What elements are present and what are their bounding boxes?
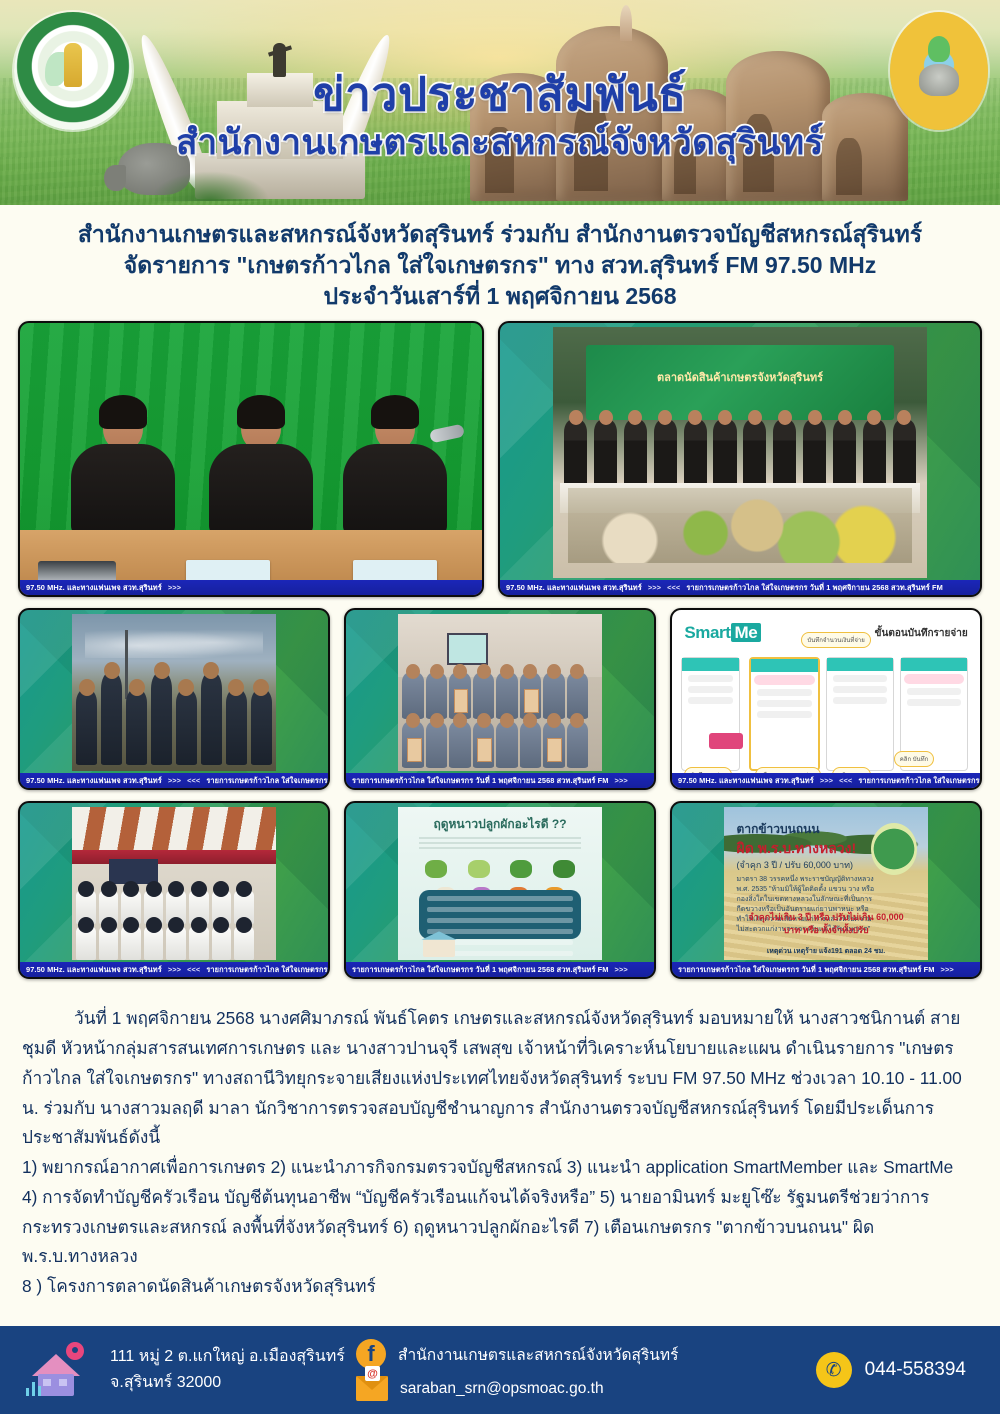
photo-seminar-tent[interactable]: 97.50 MHz. และทางแฟนเพจ สวท.สุรินทร์ >>>… bbox=[18, 801, 330, 979]
road-warning-infographic: ตากข้าวบนถนน ผิด พ.ร.บ.ทางหลวง! (จำคุก 3… bbox=[724, 807, 927, 960]
ministry-of-agriculture-seal bbox=[14, 12, 132, 130]
ticker-arrow-left: <<< bbox=[181, 965, 200, 974]
ticker-arrow-right: >>> bbox=[162, 965, 181, 974]
ticker-left-text: 97.50 MHz. และทางแฟนเพจ สวท.สุรินทร์ bbox=[500, 582, 642, 594]
banner-subheadline: สำนักงานเกษตรและสหกรณ์จังหวัดสุรินทร์ bbox=[0, 124, 1000, 162]
ceremony-scene bbox=[553, 327, 927, 578]
body-paragraph-1: วันที่ 1 พฤศจิกายน 2568 นางศศิมาภรณ์ พัน… bbox=[22, 1004, 978, 1153]
photo-vegetable-infographic[interactable]: ฤดูหนาวปลูกผักอะไรดี ?? รายการเกษตรก้าวไ… bbox=[344, 801, 656, 979]
facebook-row[interactable]: f สำนักงานเกษตรและสหกรณ์จังหวัดสุรินทร์ bbox=[356, 1339, 678, 1369]
title-line-2: จัดรายการ "เกษตรก้าวไกล ใส่ใจเกษตรกร" ทา… bbox=[26, 250, 974, 281]
ticker-arrow-right: >>> bbox=[935, 965, 954, 974]
training-room-scene bbox=[398, 614, 601, 771]
facebook-icon: f bbox=[356, 1339, 386, 1369]
footer-address: 111 หมู่ 2 ต.แกใหญ่ อ.เมืองสุรินทร์ จ.สุ… bbox=[110, 1344, 345, 1395]
ticker-right-text: รายการเกษตรก้าวไกล ใส่ใจเกษตรกร วันที่ 1… bbox=[680, 582, 943, 594]
email-icon bbox=[356, 1376, 388, 1401]
ticker-arrow-right: >>> bbox=[814, 776, 833, 785]
ticker-arrow-right: >>> bbox=[162, 583, 181, 592]
produce-display bbox=[568, 488, 912, 563]
road-warning-line-2: ผิด พ.ร.บ.ทางหลวง! bbox=[737, 838, 857, 860]
ticker-left-text: 97.50 MHz. และทางแฟนเพจ สวท.สุรินทร์ bbox=[672, 775, 814, 787]
field-visit-scene bbox=[72, 614, 275, 771]
shrub-decoration bbox=[150, 171, 270, 201]
email-address: saraban_srn@opsmoac.go.th bbox=[400, 1380, 604, 1398]
ticker-right-text: รายการเกษตรก้าวไกล ใส่ใจเกษตรกร วันที่ 1… bbox=[346, 775, 609, 787]
footer-phone-group[interactable]: ✆ 044-558394 bbox=[816, 1352, 966, 1388]
address-line-1: 111 หมู่ 2 ต.แกใหญ่ อ.เมืองสุรินทร์ bbox=[110, 1344, 345, 1370]
photo-ticker-bar: 97.50 MHz. และทางแฟนเพจ สวท.สุรินทร์ >>>… bbox=[672, 773, 980, 788]
ticker-right-text: รายการเกษตรก้าวไกล ใส่ใจเกษตรกร วันที่ 1… bbox=[672, 964, 935, 976]
photo-ticker-bar: 97.50 MHz. และทางแฟนเพจ สวท.สุรินทร์ >>>… bbox=[20, 962, 328, 977]
address-line-2: จ.สุรินทร์ 32000 bbox=[110, 1370, 345, 1396]
ticker-right-text: รายการเกษตรก้าวไกล ใส่ใจเกษตรกร วันที่ 1… bbox=[852, 775, 980, 787]
studio-scene bbox=[20, 323, 482, 595]
house-icon bbox=[423, 939, 456, 957]
projector-screen bbox=[447, 633, 488, 664]
phone-number: 044-558394 bbox=[865, 1359, 966, 1381]
ticker-left-text: 97.50 MHz. และทางแฟนเพจ สวท.สุรินทร์ bbox=[20, 775, 162, 787]
ticker-arrow-right: >>> bbox=[609, 965, 628, 974]
photo-ticker-bar: รายการเกษตรก้าวไกล ใส่ใจเกษตรกร วันที่ 1… bbox=[672, 962, 980, 977]
title-line-3: ประจำวันเสาร์ที่ 1 พฤศจิกายน 2568 bbox=[26, 281, 974, 312]
photo-ticker-bar: 97.50 MHz. และทางแฟนเพจ สวท.สุรินทร์ >>>… bbox=[500, 580, 980, 595]
poster-root: ข่าวประชาสัมพันธ์ สำนักงานเกษตรและสหกรณ์… bbox=[0, 0, 1000, 1414]
seminar-tent-scene bbox=[72, 807, 275, 960]
smartme-total-badge bbox=[709, 733, 743, 749]
smartme-heading: ขั้นตอนบันทึกรายจ่าย bbox=[875, 626, 968, 641]
ticker-right-text: รายการเกษตรก้าวไกล ใส่ใจเกษตรกร วันที่ 1… bbox=[200, 964, 328, 976]
veg-info-text-panel bbox=[419, 890, 582, 939]
ticker-left-text: 97.50 MHz. และทางแฟนเพจ สวท.สุรินทร์ bbox=[20, 582, 162, 594]
host-person-2 bbox=[209, 402, 313, 536]
photo-road-rice-drying-warning[interactable]: ตากข้าวบนถนน ผิด พ.ร.บ.ทางหลวง! (จำคุก 3… bbox=[670, 801, 982, 979]
footer-social-group: f สำนักงานเกษตรและสหกรณ์จังหวัดสุรินทร์ … bbox=[356, 1339, 786, 1401]
photo-ticker-bar: 97.50 MHz. และทางแฟนเพจ สวท.สุรินทร์ >>> bbox=[20, 580, 482, 595]
photo-grid: 97.50 MHz. และทางแฟนเพจ สวท.สุรินทร์ >>> bbox=[0, 321, 1000, 979]
smartme-callout-4: คลิก บันทึก bbox=[894, 751, 935, 767]
ceremony-green-banner bbox=[586, 345, 893, 420]
phone-icon: ✆ bbox=[816, 1352, 852, 1388]
article-body: วันที่ 1 พฤศจิกายน 2568 นางศศิมาภรณ์ พัน… bbox=[0, 990, 1000, 1308]
body-paragraph-2: 1) พยากรณ์อากาศเพื่อการเกษตร 2) แนะนำภาร… bbox=[22, 1153, 978, 1183]
photo-row-3: 97.50 MHz. และทางแฟนเพจ สวท.สุรินทร์ >>>… bbox=[18, 801, 982, 979]
photo-ticker-bar: รายการเกษตรก้าวไกล ใส่ใจเกษตรกร วันที่ 1… bbox=[346, 962, 654, 977]
ticker-arrow-left: <<< bbox=[833, 776, 852, 785]
photo-row-2: 97.50 MHz. และทางแฟนเพจ สวท.สุรินทร์ >>>… bbox=[18, 608, 982, 790]
ticker-arrow-right: >>> bbox=[162, 776, 181, 785]
smartme-step-card-1 bbox=[681, 657, 740, 771]
road-warning-penalty: จำคุกไม่เกิน 3 ปี หรือ ปรับไม่เกิน 60,00… bbox=[745, 911, 908, 938]
ticker-left-text: 97.50 MHz. และทางแฟนเพจ สวท.สุรินทร์ bbox=[20, 964, 162, 976]
road-warning-line-1: ตากข้าวบนถนน bbox=[737, 820, 820, 839]
home-location-icon bbox=[26, 1342, 96, 1398]
photo-radio-studio-hosts[interactable]: 97.50 MHz. และทางแฟนเพจ สวท.สุรินทร์ >>> bbox=[18, 321, 484, 597]
veg-info-title: ฤดูหนาวปลูกผักอะไรดี ?? bbox=[415, 815, 586, 834]
road-warning-hotline: เหตุด่วน เหตุร้าย แจ้ง191 ตลอด 24 ชม. bbox=[724, 946, 927, 957]
host-person-1 bbox=[71, 402, 175, 536]
facebook-page-name: สำนักงานเกษตรและสหกรณ์จังหวัดสุรินทร์ bbox=[398, 1342, 678, 1367]
ticker-right-text: รายการเกษตรก้าวไกล ใส่ใจเกษตรกร วันที่ 1… bbox=[200, 775, 328, 787]
papers-icon bbox=[353, 560, 437, 582]
ticker-arrow-right: >>> bbox=[642, 583, 661, 592]
vegetable-icons-row-1 bbox=[415, 856, 586, 880]
banner-title-group: ข่าวประชาสัมพันธ์ สำนักงานเกษตรและสหกรณ์… bbox=[0, 70, 1000, 161]
photo-farmer-training-room[interactable]: รายการเกษตรก้าวไกล ใส่ใจเกษตรกร วันที่ 1… bbox=[344, 608, 656, 790]
ticker-arrow-left: <<< bbox=[661, 583, 680, 592]
smartme-step-card-2 bbox=[749, 657, 820, 771]
announcement-title-block: สำนักงานเกษตรและสหกรณ์จังหวัดสุรินทร์ ร่… bbox=[0, 205, 1000, 321]
highway-department-seal bbox=[871, 823, 917, 875]
smartme-logo-right: Me bbox=[731, 623, 762, 642]
photo-ticker-bar: 97.50 MHz. และทางแฟนเพจ สวท.สุรินทร์ >>>… bbox=[20, 773, 328, 788]
smartme-step-card-3 bbox=[826, 657, 894, 771]
photo-ticker-bar: รายการเกษตรก้าวไกล ใส่ใจเกษตรกร วันที่ 1… bbox=[346, 773, 654, 788]
photo-field-visit-officials[interactable]: 97.50 MHz. และทางแฟนเพจ สวท.สุรินทร์ >>>… bbox=[18, 608, 330, 790]
vegetable-infographic: ฤดูหนาวปลูกผักอะไรดี ?? bbox=[398, 807, 601, 960]
surin-province-seal bbox=[890, 12, 988, 130]
body-paragraph-3: 4) การจัดทำบัญชีครัวเรือน บัญชีต้นทุนอาช… bbox=[22, 1183, 978, 1272]
road-warning-line-3: (จำคุก 3 ปี / ปรับ 60,000 บาท) bbox=[737, 858, 854, 872]
ticker-arrow-right: >>> bbox=[609, 776, 628, 785]
email-row[interactable]: saraban_srn@opsmoac.go.th bbox=[356, 1376, 604, 1401]
banner-headline: ข่าวประชาสัมพันธ์ bbox=[0, 70, 1000, 120]
smartme-logo: SmartMe bbox=[684, 623, 761, 643]
host-person-3 bbox=[343, 402, 447, 536]
title-line-1: สำนักงานเกษตรและสหกรณ์จังหวัดสุรินทร์ ร่… bbox=[26, 219, 974, 250]
header-banner: ข่าวประชาสัมพันธ์ สำนักงานเกษตรและสหกรณ์… bbox=[0, 0, 1000, 205]
photo-award-ceremony-certificates[interactable]: 97.50 MHz. และทางแฟนเพจ สวท.สุรินทร์ >>>… bbox=[498, 321, 982, 597]
footer-address-group: 111 หมู่ 2 ต.แกใหญ่ อ.เมืองสุรินทร์ จ.สุ… bbox=[26, 1342, 356, 1398]
smartme-screen: SmartMe ขั้นตอนบันทึกรายจ่าย bbox=[672, 610, 980, 788]
ticker-right-text: รายการเกษตรก้าวไกล ใส่ใจเกษตรกร วันที่ 1… bbox=[346, 964, 609, 976]
papers-icon bbox=[186, 560, 270, 582]
photo-smartme-app-tutorial[interactable]: SmartMe ขั้นตอนบันทึกรายจ่าย bbox=[670, 608, 982, 790]
smartme-logo-left: Smart bbox=[684, 623, 730, 642]
contact-footer: 111 หมู่ 2 ต.แกใหญ่ อ.เมืองสุรินทร์ จ.สุ… bbox=[0, 1326, 1000, 1414]
smartme-callout-5: บันทึกจำนวนเงินที่จ่าย bbox=[801, 632, 870, 648]
ticker-arrow-left: <<< bbox=[181, 776, 200, 785]
body-paragraph-4: 8 ) โครงการตลาดนัดสินค้าเกษตรจังหวัดสุริ… bbox=[22, 1272, 978, 1302]
photo-row-1: 97.50 MHz. และทางแฟนเพจ สวท.สุรินทร์ >>> bbox=[18, 321, 982, 597]
